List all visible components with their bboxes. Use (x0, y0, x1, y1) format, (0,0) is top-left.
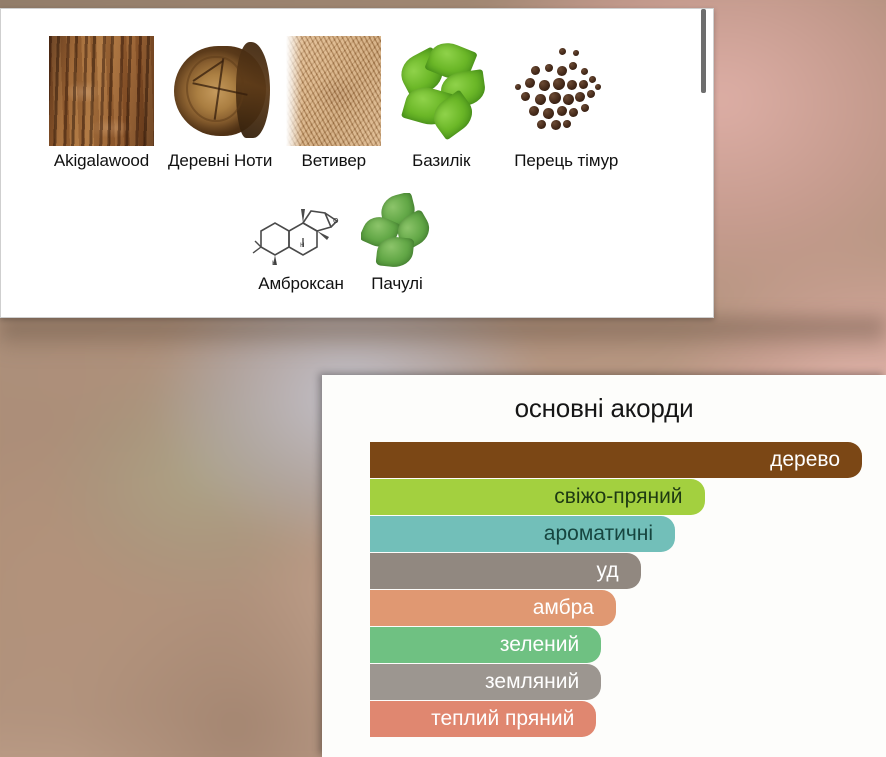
peppercorn (581, 68, 588, 75)
accord-bar[interactable]: дерево (370, 442, 862, 478)
note-item-woody-notes[interactable]: Деревні Ноти (168, 36, 272, 171)
note-item-ambroxan[interactable]: H H O Амброксан (251, 197, 351, 294)
accord-bar[interactable]: ароматичні (370, 516, 675, 552)
accord-bar-label: амбра (533, 596, 594, 620)
accord-bar-list: деревосвіжо-прянийароматичніудамбразелен… (322, 442, 886, 737)
peppercorn (515, 84, 521, 90)
peppercorn (551, 120, 561, 130)
accord-bar-label: зелений (500, 633, 579, 657)
note-label: Ветивер (301, 152, 366, 171)
peppercorn (529, 106, 539, 116)
notes-row-primary: Akigalawood Деревні Ноти Ветивер (1, 36, 713, 171)
accord-bar[interactable]: земляний (370, 664, 601, 700)
chart-title: основні акорди (322, 375, 886, 424)
accord-bar[interactable]: амбра (370, 590, 616, 626)
accord-bar[interactable]: свіжо-пряний (370, 479, 705, 515)
svg-text:H: H (272, 260, 277, 267)
note-label: Базилік (412, 152, 470, 171)
notes-row-secondary: H H O Амброксан Пачулі (1, 193, 713, 294)
peppercorn (575, 92, 585, 102)
peppercorn (579, 80, 588, 89)
note-item-patchouli[interactable]: Пачулі (361, 193, 433, 294)
vetiver-roots-image (286, 36, 381, 146)
peppercorn (543, 108, 554, 119)
scrollbar-thumb[interactable] (701, 9, 706, 93)
note-item-basil[interactable]: Базилік (395, 36, 487, 171)
wood-grain-image (49, 36, 154, 146)
peppercorn (587, 90, 595, 98)
note-label: Пачулі (371, 275, 422, 294)
peppercorn (559, 48, 566, 55)
accord-bar-label: теплий пряний (431, 707, 574, 731)
peppercorn (569, 62, 577, 70)
peppercorn (545, 64, 553, 72)
main-accords-card: основні акорди деревосвіжо-прянийаромати… (322, 375, 886, 757)
peppercorn (557, 66, 567, 76)
peppercorn (521, 92, 530, 101)
image-edge-fade (286, 36, 302, 146)
svg-text:H: H (300, 242, 305, 249)
note-label: Akigalawood (54, 152, 149, 171)
note-item-akigalawood[interactable]: Akigalawood (49, 36, 154, 171)
peppercorn (557, 106, 567, 116)
ambroxan-skeletal-formula: H H O (251, 197, 351, 269)
peppercorn (589, 76, 596, 83)
peppercorn (549, 92, 561, 104)
timur-peppercorns-image (501, 36, 631, 146)
patchouli-leaves-image (361, 193, 433, 269)
peppercorn (525, 78, 535, 88)
accord-bar[interactable]: теплий пряний (370, 701, 596, 737)
note-label: Деревні Ноти (168, 152, 272, 171)
peppercorn (563, 94, 574, 105)
peppercorn (535, 94, 546, 105)
peppercorn (539, 80, 550, 91)
note-item-vetiver[interactable]: Ветивер (286, 36, 381, 171)
basil-leaves-image (395, 36, 487, 146)
peppercorn (595, 84, 601, 90)
accord-bar-label: дерево (770, 448, 840, 472)
note-label: Амброксан (258, 275, 344, 294)
log-cross-section-image (168, 36, 272, 146)
peppercorn (573, 50, 579, 56)
fragrance-notes-card: Akigalawood Деревні Ноти Ветивер (0, 8, 714, 318)
peppercorn (537, 120, 546, 129)
accord-bar-label: ароматичні (544, 522, 653, 546)
background-shadow-band (0, 318, 886, 352)
molecule-structure-image: H H O (251, 197, 351, 269)
peppercorn (563, 120, 571, 128)
peppercorn (531, 66, 540, 75)
accord-bar[interactable]: уд (370, 553, 641, 589)
peppercorn (581, 104, 589, 112)
accord-bar[interactable]: зелений (370, 627, 601, 663)
svg-text:O: O (333, 217, 339, 225)
peppercorn (569, 108, 578, 117)
accord-bar-label: свіжо-пряний (554, 485, 682, 509)
accord-bar-label: уд (597, 559, 619, 583)
scrollbar-track[interactable] (700, 9, 710, 317)
note-label: Перець тімур (514, 152, 618, 171)
peppercorn (567, 80, 577, 90)
note-item-timur-pepper[interactable]: Перець тімур (501, 36, 631, 171)
peppercorn (553, 78, 565, 90)
accord-bar-label: земляний (485, 670, 579, 694)
